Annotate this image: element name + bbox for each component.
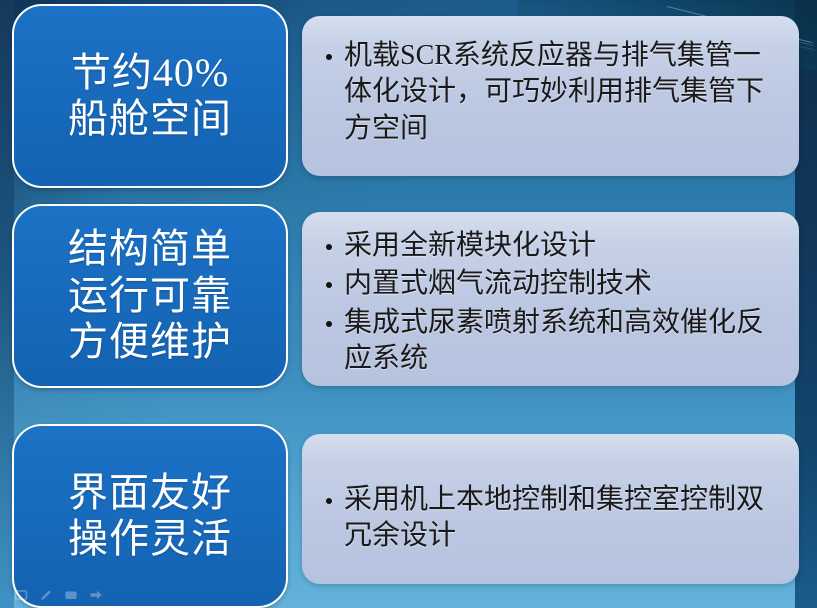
slide-menu-icon[interactable] — [64, 588, 78, 602]
feature-label-text-1: 节约40% 船舱空间 — [68, 50, 232, 143]
slide-canvas: 节约40% 船舱空间 机载SCR系统反应器与排气集管一体化设计，可巧妙利用排气集… — [0, 0, 817, 608]
feature-detail-panel-3: 采用机上本地控制和集控室控制双冗余设计 — [302, 434, 799, 584]
bullet-item: 采用全新模块化设计 — [320, 228, 783, 264]
bullet-list-2: 采用全新模块化设计 内置式烟气流动控制技术 集成式尿素喷射系统和高效催化反应系统 — [320, 226, 783, 378]
bullet-item: 内置式烟气流动控制技术 — [320, 266, 783, 302]
feature-detail-panel-1: 机载SCR系统反应器与排气集管一体化设计，可巧妙利用排气集管下方空间 — [302, 16, 799, 176]
next-slide-icon[interactable] — [89, 588, 103, 602]
feature-row-1: 节约40% 船舱空间 机载SCR系统反应器与排气集管一体化设计，可巧妙利用排气集… — [0, 4, 817, 194]
feature-detail-panel-2: 采用全新模块化设计 内置式烟气流动控制技术 集成式尿素喷射系统和高效催化反应系统 — [302, 212, 799, 386]
feature-label-card-3: 界面友好 操作灵活 — [12, 424, 288, 608]
feature-label-card-2: 结构简单 运行可靠 方便维护 — [12, 204, 288, 388]
bullet-list-1: 机载SCR系统反应器与排气集管一体化设计，可巧妙利用排气集管下方空间 — [320, 30, 783, 147]
presentation-controls[interactable] — [14, 588, 103, 602]
bullet-item: 采用机上本地控制和集控室控制双冗余设计 — [320, 482, 783, 555]
feature-label-text-3: 界面友好 操作灵活 — [68, 470, 232, 563]
bullet-item: 机载SCR系统反应器与排气集管一体化设计，可巧妙利用排气集管下方空间 — [320, 38, 783, 147]
feature-label-card-1: 节约40% 船舱空间 — [12, 4, 288, 188]
previous-slide-icon[interactable] — [14, 588, 28, 602]
bullet-list-3: 采用机上本地控制和集控室控制双冗余设计 — [320, 448, 783, 555]
pen-icon[interactable] — [39, 588, 53, 602]
bullet-item: 集成式尿素喷射系统和高效催化反应系统 — [320, 305, 783, 378]
feature-row-2: 结构简单 运行可靠 方便维护 采用全新模块化设计 内置式烟气流动控制技术 集成式… — [0, 204, 817, 394]
feature-label-text-2: 结构简单 运行可靠 方便维护 — [68, 226, 232, 365]
feature-row-3: 界面友好 操作灵活 采用机上本地控制和集控室控制双冗余设计 — [0, 424, 817, 608]
